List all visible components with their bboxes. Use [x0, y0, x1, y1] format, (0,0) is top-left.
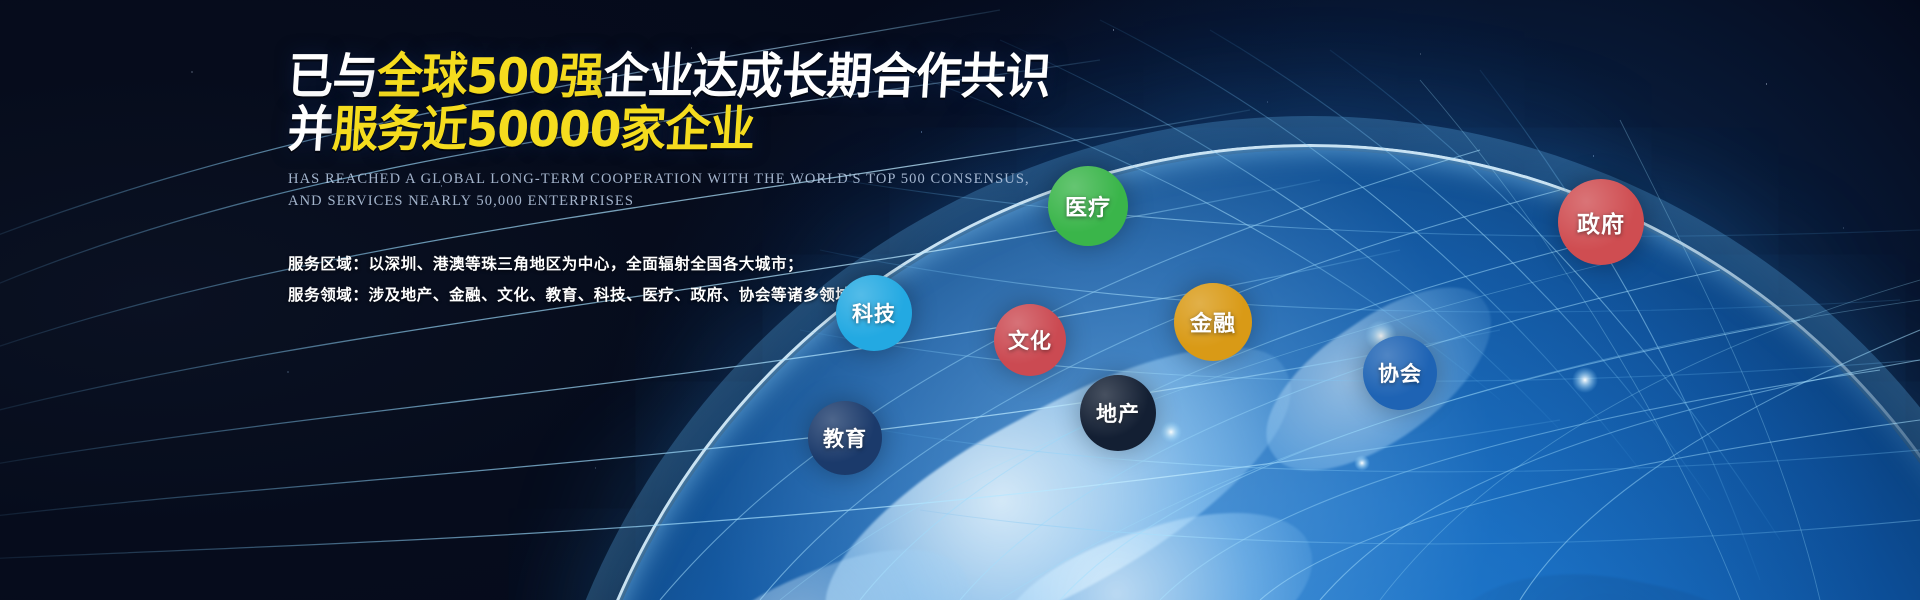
headline-segment-accent: 全球500强	[375, 48, 605, 105]
service-field-line: 服务领域：涉及地产、金融、文化、教育、科技、医疗、政府、协会等诸多领域。	[288, 280, 1048, 311]
english-subtitle-line-2: AND SERVICES NEARLY 50,000 ENTERPRISES	[288, 190, 1048, 212]
industry-bubble-label: 政府	[1577, 205, 1625, 239]
english-subtitle: HAS REACHED A GLOBAL LONG-TERM COOPERATI…	[288, 168, 1048, 213]
industry-bubble-label: 文化	[1008, 325, 1052, 355]
industry-bubble-label: 医疗	[1065, 190, 1111, 222]
industry-bubble-label: 协会	[1378, 358, 1422, 388]
industry-bubble[interactable]: 金融	[1174, 283, 1252, 361]
body-copy: 服务区域：以深圳、港澳等珠三角地区为中心，全面辐射全国各大城市； 服务领域：涉及…	[288, 249, 1048, 312]
headline-line-2: 并服务近50000家企业	[286, 105, 996, 154]
industry-bubble[interactable]: 医疗	[1048, 166, 1128, 246]
industry-bubble-label: 地产	[1096, 398, 1140, 428]
promotional-banner: 已与全球500强企业达成长期合作共识 并服务近50000家企业 HAS REAC…	[0, 0, 1920, 600]
industry-bubble-label: 科技	[852, 298, 896, 328]
industry-bubble[interactable]: 政府	[1558, 179, 1644, 265]
headline-line-1: 已与全球500强企业达成长期合作共识	[286, 52, 996, 101]
industry-bubble[interactable]: 科技	[836, 275, 912, 351]
industry-bubble-label: 金融	[1190, 306, 1236, 338]
industry-bubble[interactable]: 教育	[808, 401, 882, 475]
headline-segment: 企业达成长期合作共识	[602, 48, 1052, 105]
headline-segment: 已与	[286, 48, 379, 105]
industry-bubble[interactable]: 协会	[1363, 336, 1437, 410]
industry-bubble[interactable]: 文化	[994, 304, 1066, 376]
headline-segment: 并	[286, 101, 334, 158]
industry-bubble-label: 教育	[823, 423, 867, 453]
headline-segment-accent: 服务近50000家企业	[331, 101, 756, 158]
copy-block: 已与全球500强企业达成长期合作共识 并服务近50000家企业 HAS REAC…	[288, 52, 1048, 312]
english-subtitle-line-1: HAS REACHED A GLOBAL LONG-TERM COOPERATI…	[288, 168, 1048, 190]
industry-bubble[interactable]: 地产	[1080, 375, 1156, 451]
headline: 已与全球500强企业达成长期合作共识 并服务近50000家企业	[288, 52, 1048, 154]
service-area-line: 服务区域：以深圳、港澳等珠三角地区为中心，全面辐射全国各大城市；	[288, 249, 1048, 280]
